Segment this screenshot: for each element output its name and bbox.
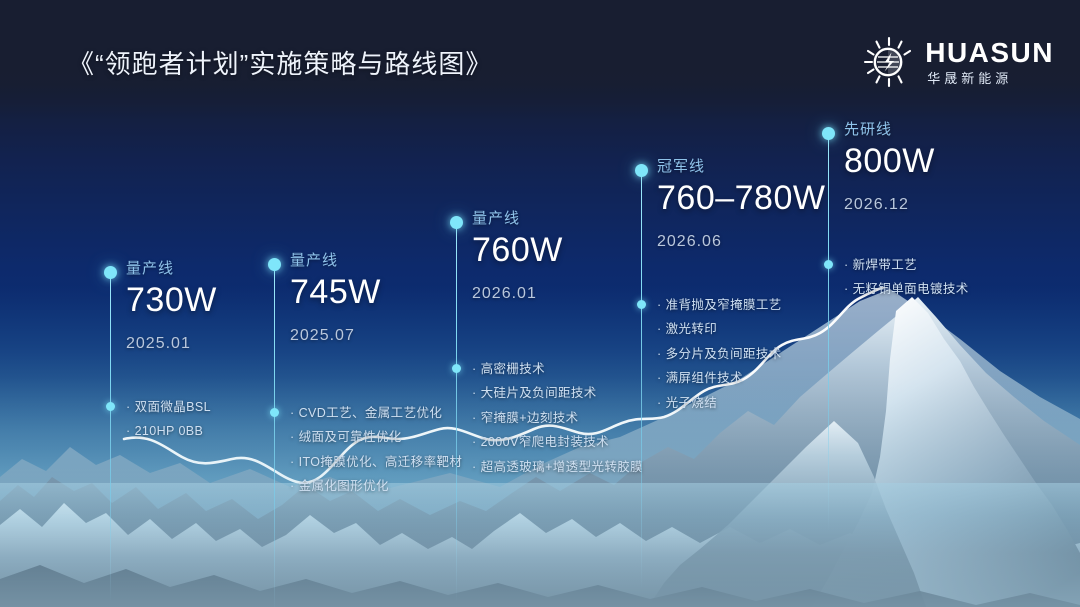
bullet-text: 高密栅技术 bbox=[481, 362, 546, 376]
bullet-marker-icon: · bbox=[290, 406, 295, 420]
milestone-header: 量产线760W2026.01 bbox=[472, 210, 563, 303]
milestone-header: 冠军线760–780W2026.06 bbox=[657, 158, 825, 251]
bullet-text: 无籽铜单面电镀技术 bbox=[853, 282, 969, 296]
bullet-marker-icon: · bbox=[472, 435, 477, 449]
milestone-power-value: 760W bbox=[472, 230, 563, 271]
milestone-power-value: 745W bbox=[290, 272, 381, 313]
timeline-detail-dot bbox=[824, 260, 833, 269]
bullet-marker-icon: · bbox=[844, 258, 849, 272]
milestone-power-value: 800W bbox=[844, 141, 935, 182]
roadmap-timeline: 量产线730W2025.01·双面微晶BSL·210HP 0BB量产线745W2… bbox=[0, 0, 1080, 607]
timeline-stem bbox=[828, 133, 829, 533]
bullet-text: 多分片及负间距技术 bbox=[666, 347, 782, 361]
milestone-date: 2026.06 bbox=[657, 233, 825, 251]
bullet-text: 新焊带工艺 bbox=[853, 258, 918, 272]
milestone-power-value: 760–780W bbox=[657, 178, 825, 219]
bullet-marker-icon: · bbox=[290, 479, 295, 493]
timeline-stem bbox=[274, 264, 275, 607]
milestone-bullet-item: ·双面微晶BSL bbox=[126, 395, 211, 419]
milestone-bullet-item: ·激光转印 bbox=[657, 317, 782, 341]
bullet-marker-icon: · bbox=[657, 298, 662, 312]
milestone-bullet-item: ·210HP 0BB bbox=[126, 419, 211, 443]
slide-root: 《“领跑者计划”实施策略与路线图》 bbox=[0, 0, 1080, 607]
timeline-node-dot[interactable] bbox=[268, 258, 281, 271]
bullet-text: 2000V窄爬电封装技术 bbox=[481, 435, 609, 449]
milestone-bullet-list: ·新焊带工艺·无籽铜单面电镀技术 bbox=[844, 253, 969, 302]
bullet-marker-icon: · bbox=[126, 400, 131, 414]
milestone-bullet-item: ·无籽铜单面电镀技术 bbox=[844, 277, 969, 301]
milestone-header: 先研线800W2026.12 bbox=[844, 121, 935, 214]
milestone-bullet-item: ·金属化图形优化 bbox=[290, 474, 462, 498]
timeline-detail-dot bbox=[452, 364, 461, 373]
milestone-bullet-item: ·高密栅技术 bbox=[472, 357, 643, 381]
milestone-date: 2025.01 bbox=[126, 335, 217, 353]
milestone-bullet-item: ·光子烧结 bbox=[657, 391, 782, 415]
milestone-bullet-item: ·满屏组件技术 bbox=[657, 366, 782, 390]
bullet-text: ITO掩膜优化、高迁移率靶材 bbox=[299, 455, 463, 469]
milestone-line-label: 量产线 bbox=[472, 210, 563, 228]
timeline-node-dot[interactable] bbox=[635, 164, 648, 177]
timeline-detail-dot bbox=[106, 402, 115, 411]
milestone-header: 量产线730W2025.01 bbox=[126, 260, 217, 353]
milestone-bullet-item: ·准背抛及窄掩膜工艺 bbox=[657, 293, 782, 317]
timeline-detail-dot bbox=[637, 300, 646, 309]
bullet-marker-icon: · bbox=[657, 371, 662, 385]
milestone-date: 2025.07 bbox=[290, 327, 381, 345]
timeline-node-dot[interactable] bbox=[104, 266, 117, 279]
bullet-marker-icon: · bbox=[290, 430, 295, 444]
milestone-date: 2026.12 bbox=[844, 196, 935, 214]
bullet-text: CVD工艺、金属工艺优化 bbox=[299, 406, 443, 420]
timeline-stem bbox=[456, 222, 457, 602]
milestone-bullet-list: ·高密栅技术·大硅片及负间距技术·窄掩膜+边刻技术·2000V窄爬电封装技术·超… bbox=[472, 357, 643, 479]
bullet-marker-icon: · bbox=[472, 362, 477, 376]
timeline-node-dot[interactable] bbox=[450, 216, 463, 229]
milestone-bullet-item: ·多分片及负间距技术 bbox=[657, 342, 782, 366]
milestone-bullet-item: ·ITO掩膜优化、高迁移率靶材 bbox=[290, 450, 462, 474]
milestone-date: 2026.01 bbox=[472, 285, 563, 303]
bullet-marker-icon: · bbox=[290, 455, 295, 469]
bullet-text: 金属化图形优化 bbox=[299, 479, 389, 493]
bullet-marker-icon: · bbox=[657, 322, 662, 336]
bullet-text: 窄掩膜+边刻技术 bbox=[481, 411, 579, 425]
bullet-marker-icon: · bbox=[126, 424, 131, 438]
milestone-bullet-item: ·窄掩膜+边刻技术 bbox=[472, 406, 643, 430]
bullet-text: 大硅片及负间距技术 bbox=[481, 386, 597, 400]
timeline-stem bbox=[110, 272, 111, 602]
bullet-text: 超高透玻璃+增透型光转胶膜 bbox=[481, 460, 644, 474]
bullet-marker-icon: · bbox=[472, 386, 477, 400]
milestone-bullet-item: ·CVD工艺、金属工艺优化 bbox=[290, 401, 462, 425]
milestone-line-label: 先研线 bbox=[844, 121, 935, 139]
milestone-bullet-list: ·准背抛及窄掩膜工艺·激光转印·多分片及负间距技术·满屏组件技术·光子烧结 bbox=[657, 293, 782, 415]
milestone-bullet-item: ·大硅片及负间距技术 bbox=[472, 381, 643, 405]
bullet-marker-icon: · bbox=[844, 282, 849, 296]
bullet-text: 满屏组件技术 bbox=[666, 371, 743, 385]
bullet-marker-icon: · bbox=[472, 460, 477, 474]
milestone-line-label: 量产线 bbox=[290, 252, 381, 270]
bullet-text: 绒面及可靠性优化 bbox=[299, 430, 402, 444]
timeline-stem bbox=[641, 170, 642, 590]
bullet-text: 准背抛及窄掩膜工艺 bbox=[666, 298, 782, 312]
milestone-power-value: 730W bbox=[126, 280, 217, 321]
milestone-bullet-item: ·新焊带工艺 bbox=[844, 253, 969, 277]
bullet-text: 光子烧结 bbox=[666, 396, 718, 410]
milestone-bullet-item: ·超高透玻璃+增透型光转胶膜 bbox=[472, 455, 643, 479]
bullet-marker-icon: · bbox=[472, 411, 477, 425]
milestone-header: 量产线745W2025.07 bbox=[290, 252, 381, 345]
milestone-bullet-item: ·2000V窄爬电封装技术 bbox=[472, 430, 643, 454]
milestone-bullet-list: ·双面微晶BSL·210HP 0BB bbox=[126, 395, 211, 444]
bullet-marker-icon: · bbox=[657, 347, 662, 361]
milestone-line-label: 量产线 bbox=[126, 260, 217, 278]
milestone-line-label: 冠军线 bbox=[657, 158, 825, 176]
bullet-text: 激光转印 bbox=[666, 322, 718, 336]
bullet-text: 双面微晶BSL bbox=[135, 400, 211, 414]
bullet-marker-icon: · bbox=[657, 396, 662, 410]
timeline-detail-dot bbox=[270, 408, 279, 417]
bullet-text: 210HP 0BB bbox=[135, 424, 204, 438]
milestone-bullet-item: ·绒面及可靠性优化 bbox=[290, 425, 462, 449]
timeline-node-dot[interactable] bbox=[822, 127, 835, 140]
milestone-bullet-list: ·CVD工艺、金属工艺优化·绒面及可靠性优化·ITO掩膜优化、高迁移率靶材·金属… bbox=[290, 401, 462, 499]
